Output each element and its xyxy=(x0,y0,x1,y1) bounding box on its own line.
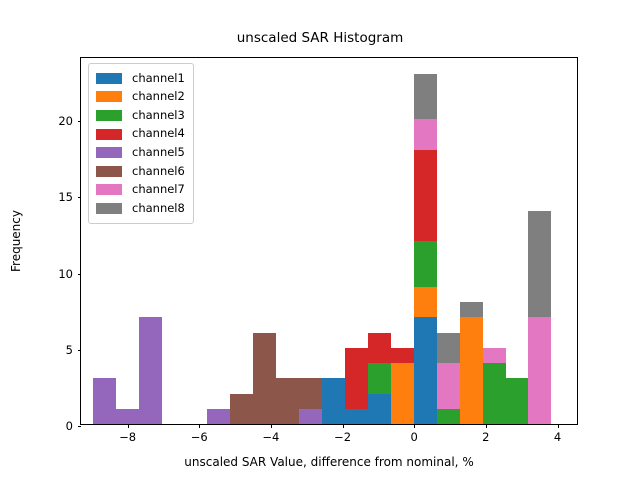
x-axis-tick-label: −6 xyxy=(191,430,208,444)
bar-segment-channel5 xyxy=(93,378,116,424)
bar-segment-channel5 xyxy=(116,409,139,424)
bar-segment-channel8 xyxy=(460,302,483,317)
y-axis-tick-label: 0 xyxy=(66,419,73,433)
histogram-bar xyxy=(483,348,506,424)
histogram-bar xyxy=(414,74,437,424)
histogram-bar xyxy=(322,378,345,424)
bar-segment-channel4 xyxy=(368,333,391,363)
legend-swatch-icon xyxy=(96,147,122,158)
x-axis-tick xyxy=(558,424,559,428)
bar-segment-channel4 xyxy=(414,150,437,241)
legend-item-channel2: channel2 xyxy=(96,88,185,107)
bar-segment-channel1 xyxy=(368,394,391,424)
x-axis-tick-label: 4 xyxy=(554,430,561,444)
legend-swatch-icon xyxy=(96,91,122,102)
x-axis-tick-label: −4 xyxy=(262,430,279,444)
bar-segment-channel2 xyxy=(414,287,437,317)
bar-segment-channel7 xyxy=(414,119,437,149)
x-axis-tick xyxy=(128,424,129,428)
bar-segment-channel6 xyxy=(253,333,276,424)
legend: channel1channel2channel3channel4channel5… xyxy=(88,63,194,224)
legend-item-label: channel8 xyxy=(132,203,185,215)
histogram-bar xyxy=(345,348,368,424)
legend-item-channel8: channel8 xyxy=(96,199,185,218)
x-axis-tick-label: −2 xyxy=(334,430,351,444)
bar-segment-channel5 xyxy=(299,409,322,424)
bar-segment-channel7 xyxy=(528,317,551,424)
bar-segment-channel3 xyxy=(437,409,460,424)
bar-segment-channel5 xyxy=(207,409,230,424)
legend-item-label: channel2 xyxy=(132,91,185,103)
legend-item-label: channel1 xyxy=(132,73,185,85)
y-axis-tick-label: 10 xyxy=(58,267,73,281)
histogram-bar xyxy=(276,378,299,424)
bar-segment-channel4 xyxy=(391,348,414,363)
bar-segment-channel3 xyxy=(483,363,506,424)
x-axis-tick xyxy=(271,424,272,428)
histogram-bar xyxy=(230,394,253,424)
legend-item-channel5: channel5 xyxy=(96,143,185,162)
histogram-bar xyxy=(460,302,483,424)
legend-item-label: channel4 xyxy=(132,128,185,140)
bar-segment-channel8 xyxy=(414,74,437,120)
legend-swatch-icon xyxy=(96,129,122,140)
bar-segment-channel7 xyxy=(483,348,506,363)
bar-segment-channel3 xyxy=(414,241,437,287)
legend-item-channel1: channel1 xyxy=(96,69,185,88)
y-axis-tick xyxy=(78,426,82,427)
legend-swatch-icon xyxy=(96,166,122,177)
bar-segment-channel1 xyxy=(345,409,368,424)
bar-segment-channel3 xyxy=(368,363,391,393)
legend-item-channel3: channel3 xyxy=(96,106,185,125)
y-axis-tick xyxy=(78,121,82,122)
histogram-bar xyxy=(368,333,391,424)
y-axis-tick xyxy=(78,274,82,275)
legend-swatch-icon xyxy=(96,73,122,84)
bar-segment-channel4 xyxy=(345,348,368,409)
histogram-bar xyxy=(253,333,276,424)
histogram-bar xyxy=(139,317,162,424)
legend-item-label: channel5 xyxy=(132,147,185,159)
page-title: unscaled SAR Histogram xyxy=(0,30,640,46)
legend-swatch-icon xyxy=(96,184,122,195)
x-axis-tick-label: 0 xyxy=(411,430,418,444)
histogram-bar xyxy=(506,378,529,424)
bar-segment-channel1 xyxy=(414,317,437,424)
bar-segment-channel8 xyxy=(528,211,551,318)
y-axis-label: Frequency xyxy=(9,210,23,272)
bar-segment-channel7 xyxy=(437,363,460,409)
bar-segment-channel8 xyxy=(437,333,460,363)
bar-segment-channel6 xyxy=(230,394,253,424)
legend-item-channel6: channel6 xyxy=(96,162,185,181)
histogram-bar xyxy=(207,409,230,424)
bar-segment-channel2 xyxy=(391,363,414,424)
y-axis-tick-label: 15 xyxy=(58,190,73,204)
figure-canvas: unscaled SAR Histogram −8−6−4−2024051015… xyxy=(0,0,640,480)
legend-item-label: channel6 xyxy=(132,166,185,178)
bar-segment-channel6 xyxy=(299,378,322,408)
legend-item-channel7: channel7 xyxy=(96,181,185,200)
histogram-bar xyxy=(116,409,139,424)
x-axis-label: unscaled SAR Value, difference from nomi… xyxy=(80,455,578,469)
bar-segment-channel6 xyxy=(276,378,299,424)
histogram-bar xyxy=(391,348,414,424)
x-axis-tick xyxy=(199,424,200,428)
x-axis-tick-label: −8 xyxy=(119,430,136,444)
bar-segment-channel1 xyxy=(322,378,345,424)
legend-item-label: channel3 xyxy=(132,110,185,122)
y-axis-tick-label: 5 xyxy=(66,343,73,357)
x-axis-tick xyxy=(486,424,487,428)
legend-item-channel4: channel4 xyxy=(96,125,185,144)
bar-segment-channel3 xyxy=(506,378,529,424)
bar-segment-channel2 xyxy=(460,317,483,424)
legend-swatch-icon xyxy=(96,203,122,214)
x-axis-tick-label: 2 xyxy=(482,430,489,444)
y-axis-tick xyxy=(78,350,82,351)
histogram-bar xyxy=(528,211,551,424)
y-axis-tick xyxy=(78,197,82,198)
bar-segment-channel5 xyxy=(139,317,162,424)
histogram-bar xyxy=(93,378,116,424)
histogram-bar xyxy=(437,333,460,424)
x-axis-tick xyxy=(343,424,344,428)
legend-swatch-icon xyxy=(96,110,122,121)
histogram-bar xyxy=(299,378,322,424)
x-axis-tick xyxy=(414,424,415,428)
y-axis-tick-label: 20 xyxy=(58,114,73,128)
legend-item-label: channel7 xyxy=(132,184,185,196)
